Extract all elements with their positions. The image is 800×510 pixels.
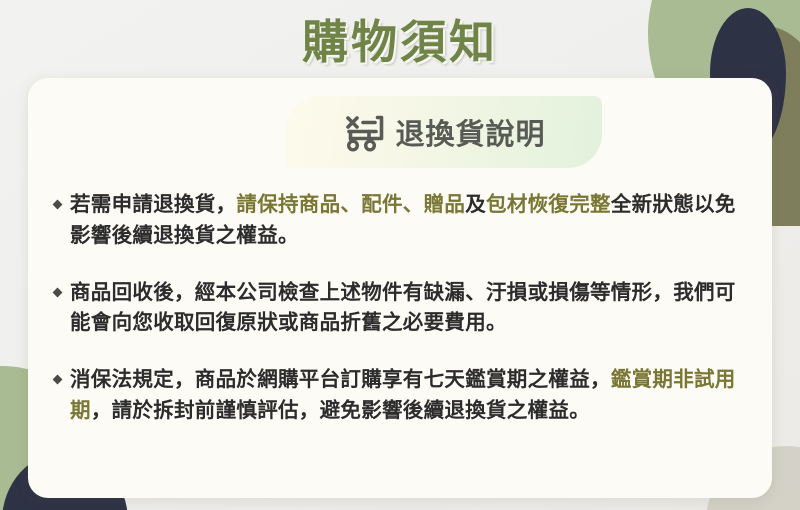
notice-text-segment: 若需申請退換貨， <box>70 193 236 216</box>
bullet-diamond-icon <box>53 287 63 297</box>
notice-text-segment: 請保持商品、配件、贈品 <box>236 193 465 216</box>
notice-text-segment: 消保法規定，商品於網購平台訂購享有七天鑑賞期之權益， <box>70 368 611 391</box>
cart-x-icon <box>342 112 388 154</box>
notice-item: 消保法規定，商品於網購平台訂購享有七天鑑賞期之權益，鑑賞期非試用期，請於拆封前謹… <box>54 365 754 427</box>
return-policy-title: 退換貨說明 <box>395 111 545 153</box>
notice-text: 若需申請退換貨，請保持商品、配件、贈品及包材恢復完整全新狀態以免影響後續退換貨之… <box>70 190 754 252</box>
notice-item: 若需申請退換貨，請保持商品、配件、贈品及包材恢復完整全新狀態以免影響後續退換貨之… <box>54 190 754 252</box>
page-title: 購物須知 <box>0 6 800 72</box>
notice-item: 商品回收後，經本公司檢查上述物件有缺漏、汙損或損傷等情形，我們可能會向您收取回復… <box>54 278 754 340</box>
bullet-diamond-icon <box>53 200 63 210</box>
notice-text: 商品回收後，經本公司檢查上述物件有缺漏、汙損或損傷等情形，我們可能會向您收取回復… <box>70 278 754 340</box>
notice-text: 消保法規定，商品於網購平台訂購享有七天鑑賞期之權益，鑑賞期非試用期，請於拆封前謹… <box>70 365 754 427</box>
notice-text-segment: 及 <box>465 193 486 216</box>
notice-text-segment: ，請於拆封前謹慎評估，避免影響後續退換貨之權益。 <box>91 399 590 422</box>
bullet-diamond-icon <box>53 375 63 385</box>
notice-text-segment: 商品回收後，經本公司檢查上述物件有缺漏、汙損或損傷等情形，我們可能會向您收取回復… <box>70 281 736 335</box>
notice-list: 若需申請退換貨，請保持商品、配件、贈品及包材恢復完整全新狀態以免影響後續退換貨之… <box>54 190 754 427</box>
notice-text-segment: 包材恢復完整 <box>486 193 611 216</box>
return-policy-banner: 退換貨說明 <box>286 96 602 168</box>
page-root: 購物須知 退換貨說明 若需申請退換貨，請保持商品、配件、贈品及包材恢復完整全新狀… <box>0 0 800 510</box>
shopping-notice-card: 退換貨說明 若需申請退換貨，請保持商品、配件、贈品及包材恢復完整全新狀態以免影響… <box>28 78 772 498</box>
